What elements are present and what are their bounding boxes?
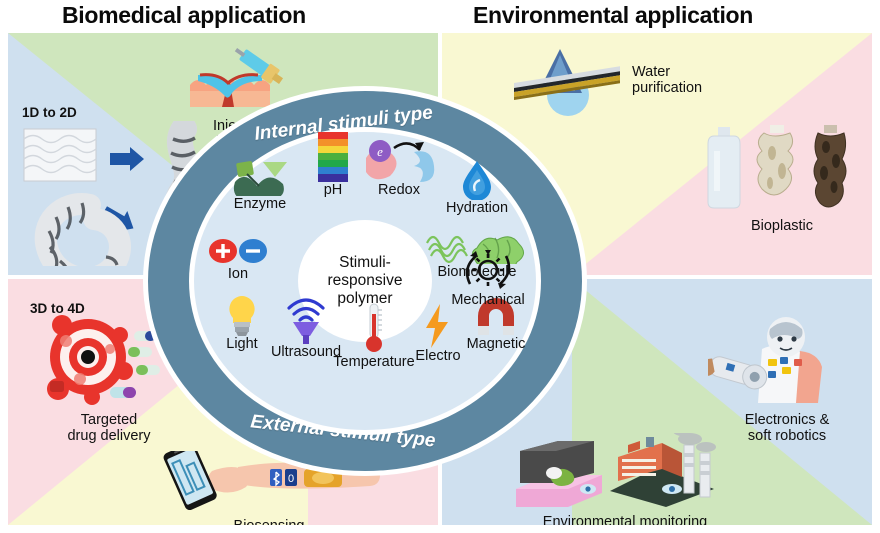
syringe-skin-icon [184,41,304,113]
core-line-2: responsive [328,272,403,290]
app-bioplastic: Bioplastic [698,121,866,234]
factory-sensor-icon [506,433,744,509]
core-line-1: Stimuli- [328,254,403,272]
header-biomedical: Biomedical application [62,2,306,29]
app-caption-line2: drug delivery [24,428,194,444]
degrading-bottles-icon [698,121,866,213]
header-environmental: Environmental application [473,2,753,29]
app-environmental-monitoring: Environmental monitoring [506,433,744,525]
app-caption-line1: Electronics & [708,412,866,428]
app-caption-line1: Biosensing [154,518,384,525]
humanoid-robot-icon [708,315,866,407]
inner-disk: Stimuli- responsive polymer Enzyme [194,132,536,430]
app-electronics-robotics: Electronics & soft robotics [708,315,866,444]
core-label: Stimuli- responsive polymer [328,254,403,308]
stimulus-hydration: Hydration [429,164,525,216]
app-water-purification: Water purification [508,43,702,117]
stimulus-label: Mechanical [440,293,536,308]
app-caption-line1: Water [632,64,702,80]
stimulus-label: Magnetic [448,337,544,352]
gear-rotation-icon [440,256,536,292]
app-caption-line1: Targeted [24,412,194,428]
water-drop-icon [429,164,525,200]
stimulus-mechanical: Mechanical [440,256,536,308]
app-caption-line2: purification [632,80,702,96]
stimulus-label: Hydration [429,201,525,216]
diagram-canvas: 1D to 2D [8,33,872,525]
svg-text:e: e [377,144,383,159]
app-caption-line1: Environmental monitoring [506,514,744,525]
stimulus-label: Enzyme [212,197,308,212]
water-droplet-membrane-icon [508,43,626,117]
stimulus-ion: Ion [190,230,286,282]
dimension-step-label-1: 1D to 2D [22,105,77,120]
ion-charges-icon [190,230,286,266]
app-caption-line1: Bioplastic [698,218,866,234]
stimulus-label: Ion [190,267,286,282]
svg-text:0: 0 [288,473,294,485]
outer-ring-band: Internal stimuli type External stimuli t… [148,91,582,471]
